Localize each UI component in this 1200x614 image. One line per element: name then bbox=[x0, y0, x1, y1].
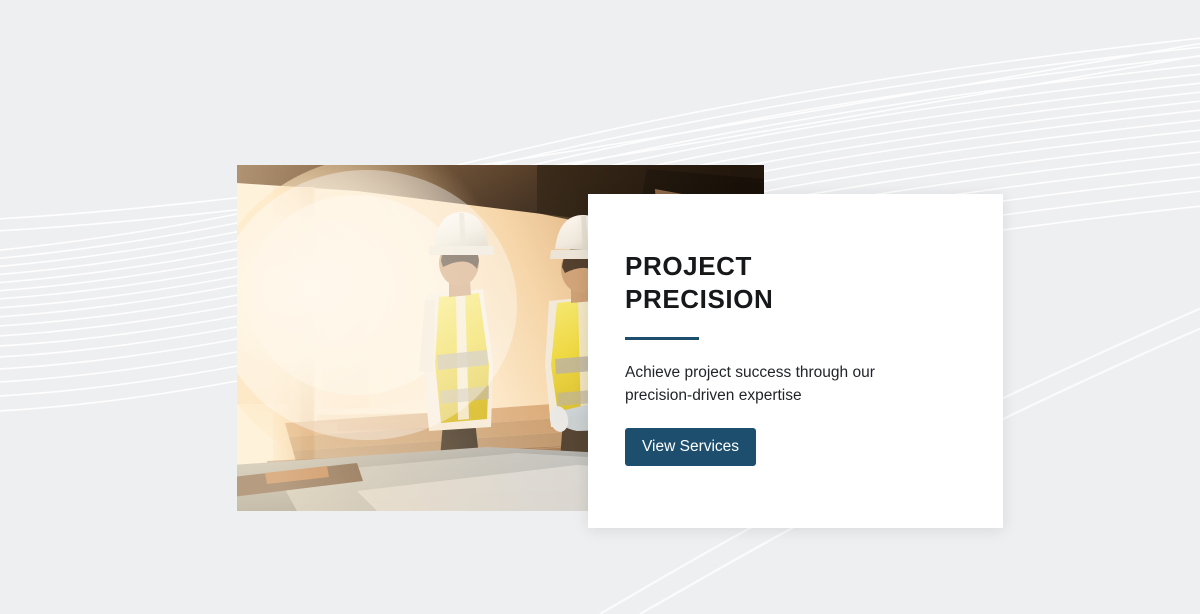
card-description: Achieve project success through our prec… bbox=[625, 361, 895, 407]
card-content: PROJECT PRECISION Achieve project succes… bbox=[625, 250, 979, 466]
content-card: PROJECT PRECISION Achieve project succes… bbox=[588, 194, 1003, 528]
view-services-button[interactable]: View Services bbox=[625, 428, 756, 466]
title-divider bbox=[625, 337, 699, 340]
page-title: PROJECT PRECISION bbox=[625, 250, 979, 316]
hero-banner: PROJECT PRECISION Achieve project succes… bbox=[0, 0, 1200, 614]
